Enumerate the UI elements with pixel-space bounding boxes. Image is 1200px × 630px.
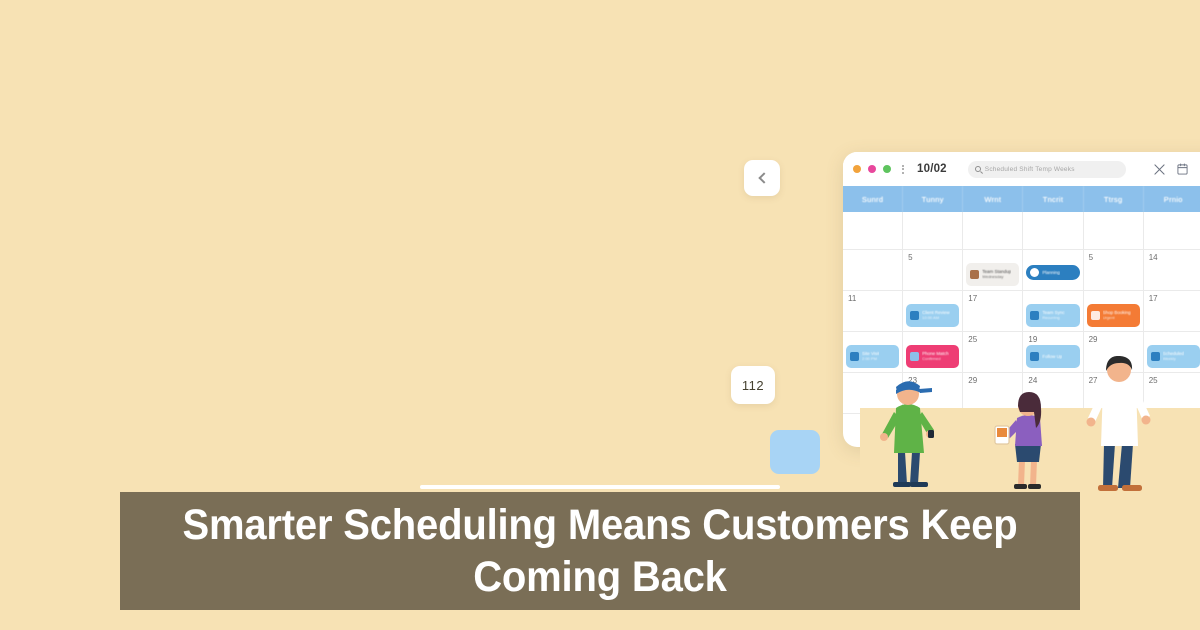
day-number: 5 xyxy=(1089,253,1093,262)
calendar-week-row: 5Team StandupWednesdayPlanning51413 xyxy=(843,250,1200,291)
event-subtitle: Urgent xyxy=(1103,316,1131,321)
day-number: 25 xyxy=(968,335,977,344)
calendar-day-cell[interactable] xyxy=(1023,212,1083,249)
traffic-light-pink-icon[interactable] xyxy=(868,165,876,173)
calendar-event-chip[interactable]: Team StandupWednesday xyxy=(966,263,1019,286)
divider xyxy=(420,485,780,489)
event-title: Planning xyxy=(1042,270,1060,275)
calendar-date-label: 10/02 xyxy=(917,163,947,175)
weekday-header-1: Tunny xyxy=(903,186,963,212)
counter-chip[interactable]: 112 xyxy=(731,366,775,404)
calendar-day-cell[interactable]: 17 xyxy=(963,291,1023,331)
weekday-header-0: Sunrd xyxy=(843,186,903,212)
calendar-day-cell[interactable]: 5 xyxy=(903,250,963,290)
calendar-toolbar xyxy=(1154,163,1200,176)
calendar-day-cell[interactable]: Shop BookingUrgent xyxy=(1084,291,1144,331)
calendar-titlebar: 10/02 Scheduled Shift Temp Weeks xyxy=(843,152,1200,186)
search-icon xyxy=(975,166,981,172)
counter-chip-label: 112 xyxy=(742,378,764,393)
weekday-header-3: Tncrit xyxy=(1023,186,1083,212)
traffic-light-orange-icon[interactable] xyxy=(853,165,861,173)
calendar-day-cell[interactable] xyxy=(843,250,903,290)
event-text: Client Review10:00 AM xyxy=(922,310,950,321)
pin-icon xyxy=(850,352,859,361)
calendar-event-chip[interactable]: Client Review10:00 AM xyxy=(906,304,959,327)
blue-swatch[interactable] xyxy=(770,430,820,474)
calendar-event-chip[interactable]: Team SyncRecurring xyxy=(1026,304,1079,327)
more-options-icon[interactable] xyxy=(902,165,904,174)
calendar-day-cell[interactable]: Client Review10:00 AM xyxy=(903,291,963,331)
event-text: Shop BookingUrgent xyxy=(1103,310,1131,321)
calendar-event-chip[interactable]: Shop BookingUrgent xyxy=(1087,304,1140,327)
calendar-day-cell[interactable]: 14 xyxy=(1144,250,1200,290)
chevron-left-icon xyxy=(758,172,769,183)
event-subtitle: Recurring xyxy=(1042,316,1064,321)
calendar-day-cell[interactable]: Team SyncRecurring xyxy=(1023,291,1083,331)
search-input[interactable]: Scheduled Shift Temp Weeks xyxy=(968,161,1126,178)
alert-icon xyxy=(1091,311,1100,320)
calendar-week-row xyxy=(843,212,1200,250)
headline-overlay: Smarter Scheduling Means Customers Keep … xyxy=(120,492,1080,610)
calendar-day-cell[interactable] xyxy=(903,212,963,249)
day-number: 5 xyxy=(908,253,912,262)
event-subtitle: 10:00 AM xyxy=(922,316,950,321)
back-button[interactable] xyxy=(744,160,780,196)
traffic-light-green-icon[interactable] xyxy=(883,165,891,173)
clock-icon xyxy=(1030,268,1039,277)
calendar-icon[interactable] xyxy=(1177,163,1188,175)
calendar-day-cell[interactable]: Team StandupWednesday xyxy=(963,250,1023,290)
calendar-event-chip[interactable]: Planning xyxy=(1026,265,1079,280)
search-placeholder: Scheduled Shift Temp Weeks xyxy=(985,166,1075,173)
event-subtitle: Wednesday xyxy=(982,275,1011,280)
calendar-day-cell[interactable] xyxy=(963,212,1023,249)
weekday-header-4: Ttrsg xyxy=(1084,186,1144,212)
hero-banner: 10/02 Scheduled Shift Temp Weeks xyxy=(0,0,1200,630)
day-number: 19 xyxy=(1028,335,1037,344)
calendar-day-cell[interactable]: 5 xyxy=(1084,250,1144,290)
day-number: 17 xyxy=(1149,294,1158,303)
day-number: 17 xyxy=(968,294,977,303)
people-illustration xyxy=(860,356,1200,496)
event-text: Team SyncRecurring xyxy=(1042,310,1064,321)
briefcase-icon xyxy=(970,270,979,279)
page-title: Smarter Scheduling Means Customers Keep … xyxy=(154,499,1047,603)
weekday-header-5: Prnio xyxy=(1144,186,1200,212)
calendar-weekday-header: SunrdTunnyWrntTncritTtrsgPrnioTatv xyxy=(843,186,1200,212)
day-number: 29 xyxy=(1089,335,1098,344)
group-icon xyxy=(1030,311,1039,320)
user-icon xyxy=(910,311,919,320)
shuffle-icon[interactable] xyxy=(1154,164,1165,175)
calendar-week-row: 11Client Review10:00 AM17Team SyncRecurr… xyxy=(843,291,1200,332)
calendar-day-cell[interactable]: 17 xyxy=(1144,291,1200,331)
calendar-day-cell[interactable]: Planning xyxy=(1023,250,1083,290)
event-text: Planning xyxy=(1042,270,1060,275)
event-text: Team StandupWednesday xyxy=(982,269,1011,280)
day-number: 14 xyxy=(1149,253,1158,262)
day-number: 11 xyxy=(848,294,856,303)
calendar-day-cell[interactable]: 11 xyxy=(843,291,903,331)
calendar-day-cell[interactable] xyxy=(1144,212,1200,249)
calendar-day-cell[interactable] xyxy=(843,212,903,249)
weekday-header-2: Wrnt xyxy=(963,186,1023,212)
calendar-day-cell[interactable] xyxy=(1084,212,1144,249)
